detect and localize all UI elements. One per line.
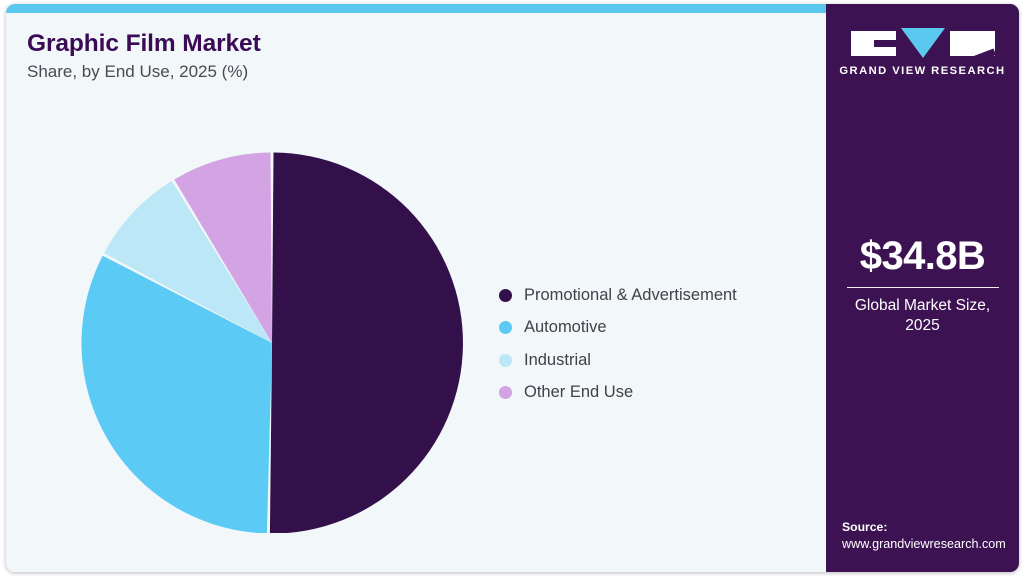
legend-color-swatch-icon xyxy=(499,386,512,399)
title-group: Graphic Film Market Share, by End Use, 2… xyxy=(27,30,647,82)
brand-logo: GRAND VIEW RESEARCH xyxy=(826,30,1019,77)
legend-item[interactable]: Other End Use xyxy=(499,377,737,410)
logo-letter-g-icon xyxy=(851,31,896,56)
legend-item-label: Automotive xyxy=(524,318,607,337)
legend-color-swatch-icon xyxy=(499,321,512,334)
legend-item[interactable]: Promotional & Advertisement xyxy=(499,279,737,312)
brand-panel: GRAND VIEW RESEARCH $34.8B Global Market… xyxy=(826,4,1019,572)
legend-item[interactable]: Automotive xyxy=(499,312,737,345)
logo-triangle-v-icon xyxy=(901,28,945,58)
pie-chart xyxy=(76,137,472,533)
chart-legend: Promotional & AdvertisementAutomotiveInd… xyxy=(499,279,737,409)
source-url: www.grandviewresearch.com xyxy=(842,536,1019,554)
pie-slice[interactable] xyxy=(270,153,463,533)
source-block: Source: www.grandviewresearch.com xyxy=(842,519,1019,554)
legend-color-swatch-icon xyxy=(499,289,512,302)
chart-pane: Graphic Film Market Share, by End Use, 2… xyxy=(6,13,826,572)
pie-slice-group xyxy=(82,153,463,533)
page-title: Graphic Film Market xyxy=(27,30,647,57)
headline-stat: $34.8B Global Market Size, 2025 xyxy=(826,236,1019,337)
infographic-card: Graphic Film Market Share, by End Use, 2… xyxy=(6,4,1019,572)
infographic-root: Graphic Film Market Share, by End Use, 2… xyxy=(0,0,1025,576)
logo-letter-r-icon xyxy=(950,31,995,56)
stat-value: $34.8B xyxy=(826,236,1019,278)
legend-item-label: Promotional & Advertisement xyxy=(524,286,737,305)
brand-wordmark: GRAND VIEW RESEARCH xyxy=(826,65,1019,77)
legend-item-label: Industrial xyxy=(524,351,591,370)
stat-divider xyxy=(847,287,999,288)
pie-chart-svg xyxy=(76,137,472,533)
stat-caption: Global Market Size, 2025 xyxy=(826,296,1019,337)
legend-item[interactable]: Industrial xyxy=(499,344,737,377)
source-label: Source: xyxy=(842,519,1019,537)
page-subtitle: Share, by End Use, 2025 (%) xyxy=(27,62,647,82)
legend-color-swatch-icon xyxy=(499,354,512,367)
legend-item-label: Other End Use xyxy=(524,383,633,402)
logo-marks xyxy=(826,30,1019,56)
